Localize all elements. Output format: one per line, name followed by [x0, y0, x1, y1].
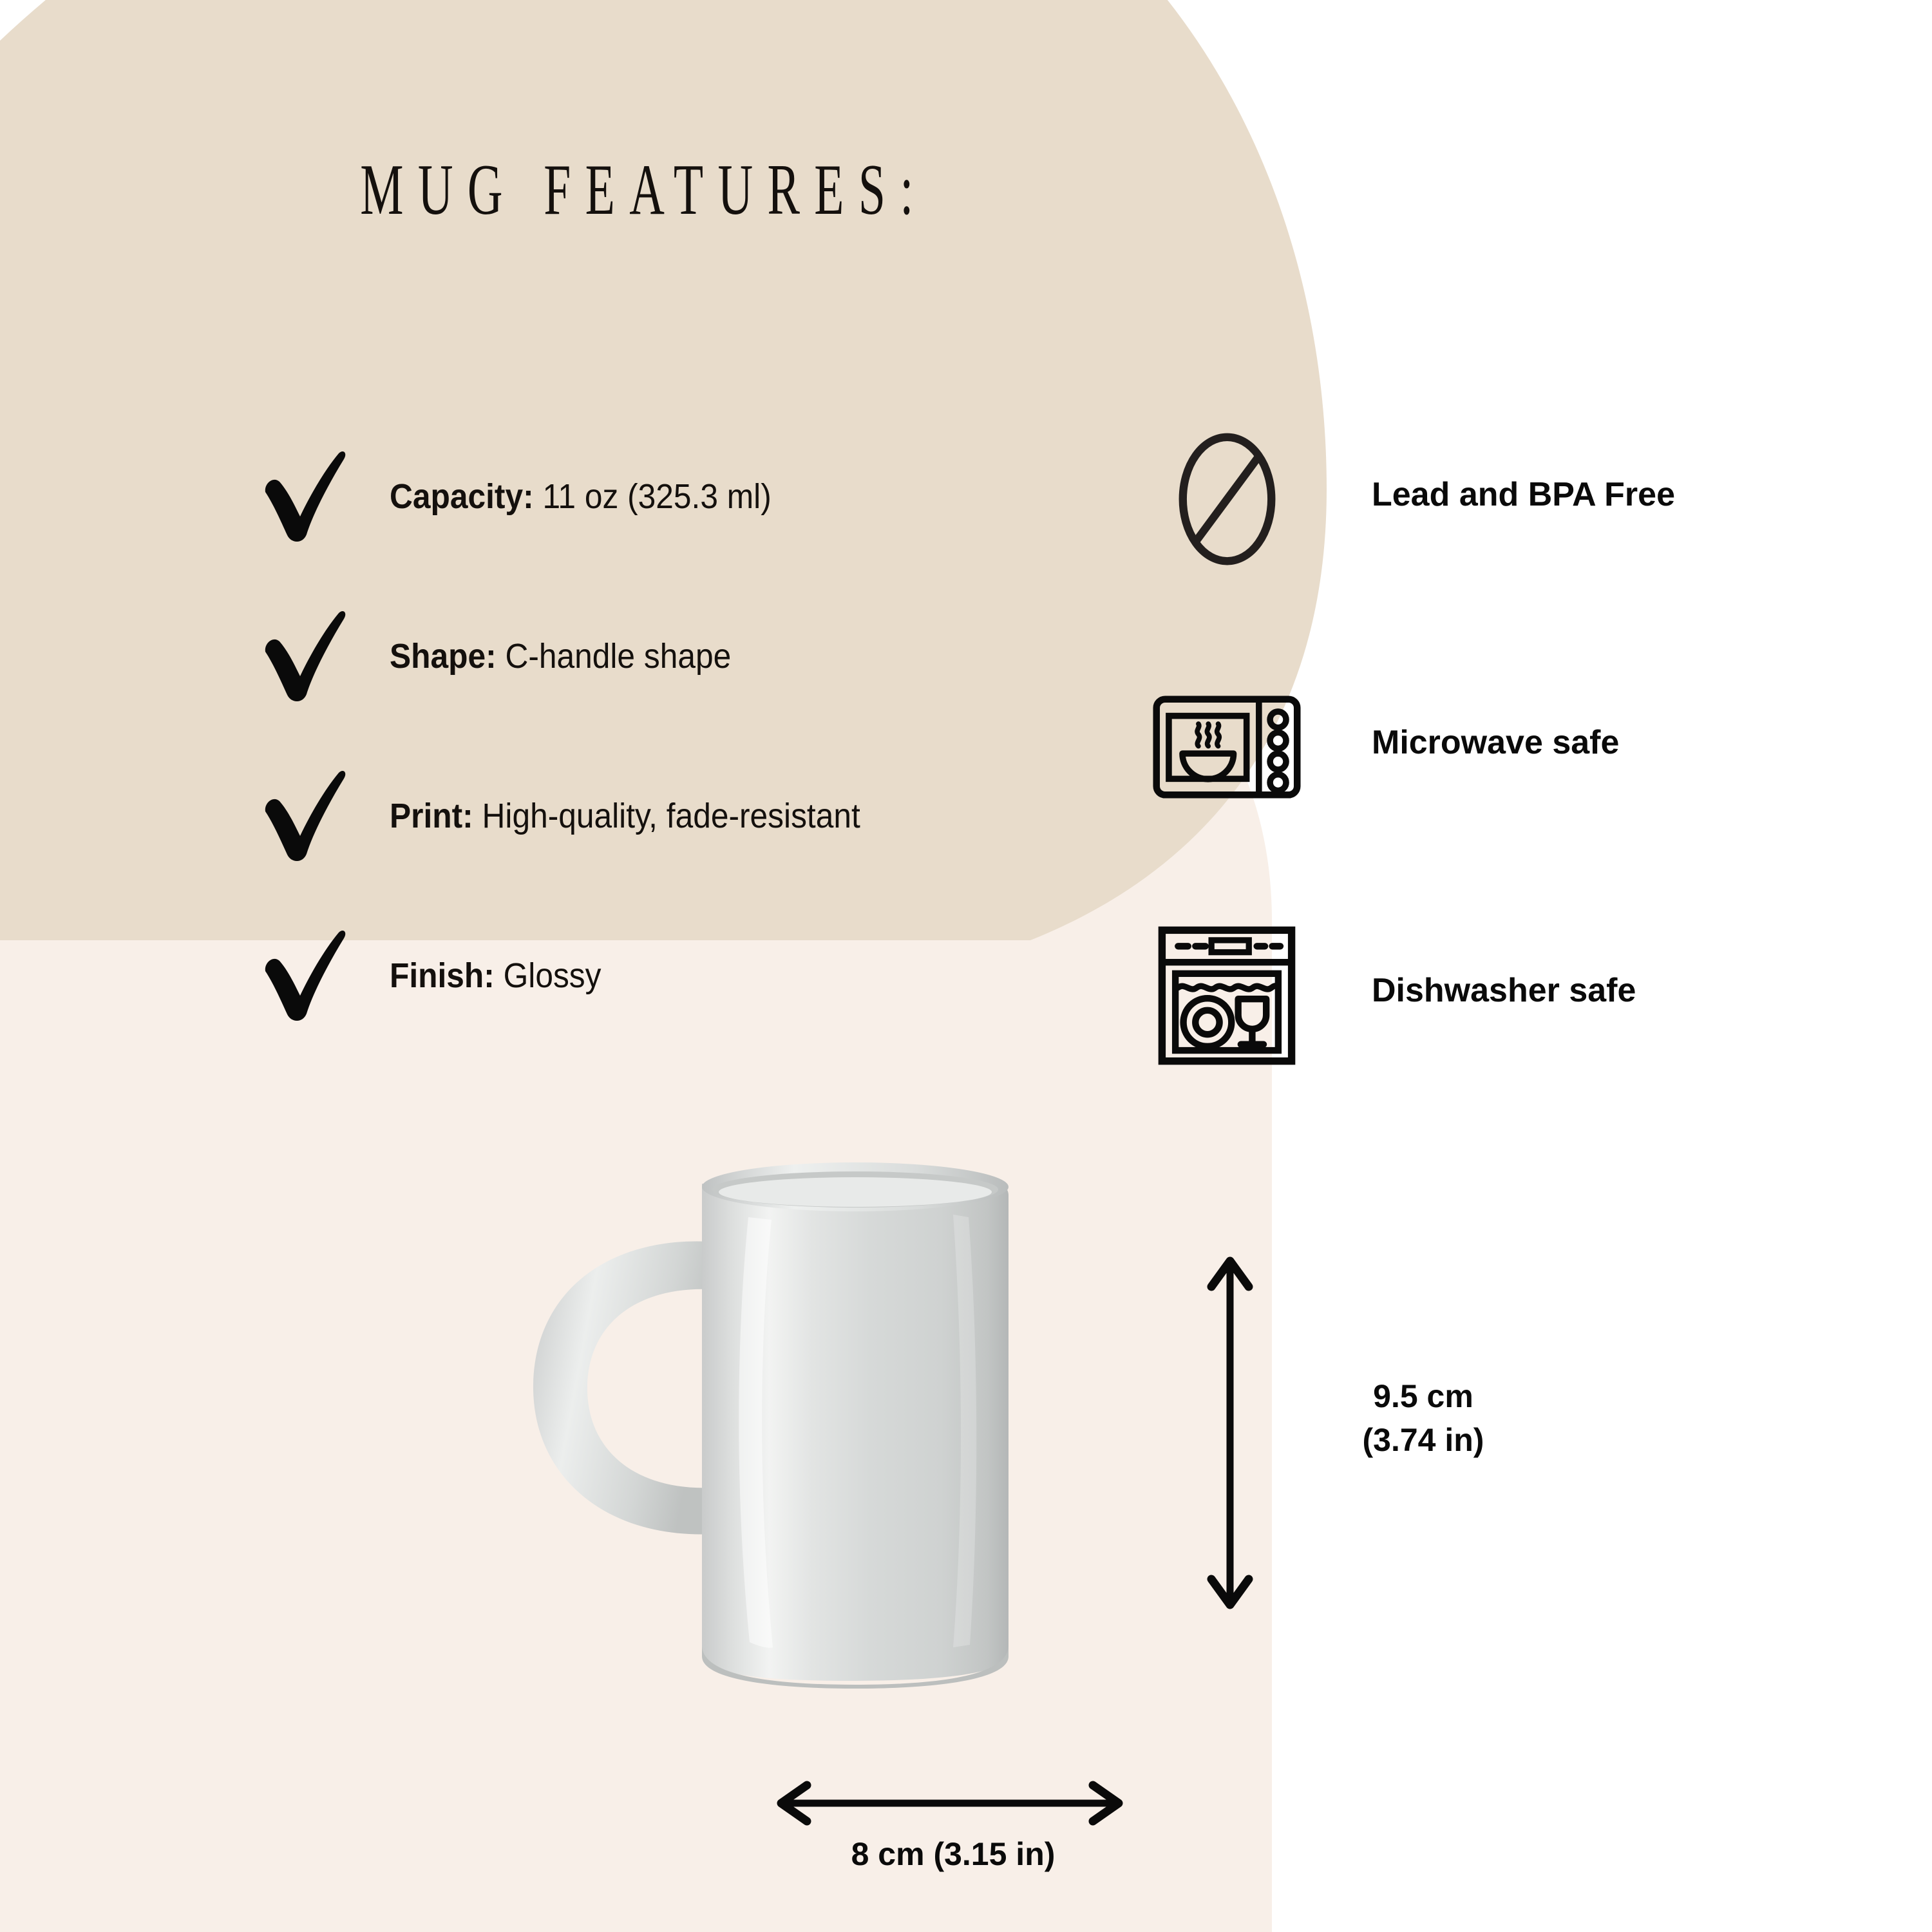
no-entry-icon: [1153, 425, 1301, 573]
feature-list: Capacity: 11 oz (325.3 ml) Shape: C-hand…: [258, 444, 1063, 1083]
feature-row-print: Print: High-quality, fade-resistant: [258, 764, 1063, 923]
height-value-cm: 9.5 cm: [1285, 1375, 1562, 1419]
safety-label: Lead and BPA Free: [1372, 475, 1675, 514]
safety-label: Microwave safe: [1372, 723, 1619, 762]
check-icon: [258, 766, 348, 863]
width-dimension-arrow: [770, 1777, 1130, 1829]
feature-text: Finish: Glossy: [390, 957, 601, 995]
microwave-icon: [1153, 673, 1301, 821]
feature-label: Capacity:: [390, 477, 534, 516]
feature-text: Shape: C-handle shape: [390, 638, 731, 676]
dishwasher-icon: [1153, 921, 1301, 1069]
height-dimension-label: 9.5 cm (3.74 in): [1285, 1375, 1562, 1462]
white-ceramic-mug: [509, 1101, 1172, 1752]
mug-features-infographic: MUG FEATURES: Capacity: 11 oz (325.3 ml)…: [0, 0, 1932, 1932]
safety-row-lead-bpa-free: Lead and BPA Free: [1153, 425, 1893, 673]
safety-list: Lead and BPA Free: [1153, 425, 1893, 1169]
check-icon: [258, 447, 348, 544]
safety-row-dishwasher-safe: Dishwasher safe: [1153, 921, 1893, 1169]
feature-value: 11 oz (325.3 ml): [542, 477, 771, 516]
feature-row-finish: Finish: Glossy: [258, 923, 1063, 1083]
height-dimension-arrow: [1195, 1249, 1265, 1616]
feature-value: C-handle shape: [505, 637, 731, 676]
feature-value: Glossy: [504, 956, 601, 995]
feature-text: Capacity: 11 oz (325.3 ml): [390, 478, 772, 516]
safety-label: Dishwasher safe: [1372, 971, 1636, 1010]
check-icon: [258, 926, 348, 1023]
feature-text: Print: High-quality, fade-resistant: [390, 797, 860, 835]
feature-value: High-quality, fade-resistant: [482, 797, 860, 835]
feature-row-shape: Shape: C-handle shape: [258, 604, 1063, 764]
height-value-in: (3.74 in): [1285, 1419, 1562, 1463]
width-dimension-label: 8 cm (3.15 in): [696, 1835, 1211, 1873]
feature-label: Finish:: [390, 956, 495, 995]
feature-label: Print:: [390, 797, 473, 835]
safety-row-microwave-safe: Microwave safe: [1153, 673, 1893, 921]
feature-row-capacity: Capacity: 11 oz (325.3 ml): [258, 444, 1063, 604]
feature-label: Shape:: [390, 637, 497, 676]
page-title: MUG FEATURES:: [90, 149, 1198, 232]
check-icon: [258, 607, 348, 703]
